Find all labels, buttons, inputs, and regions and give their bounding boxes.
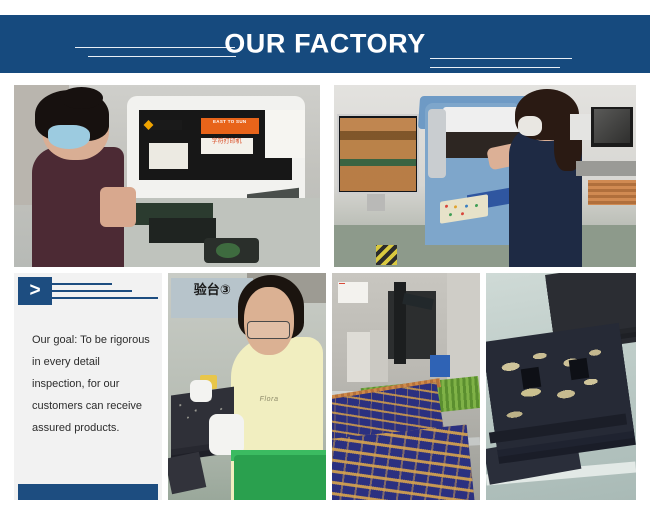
decor-line-right-2: [430, 67, 560, 68]
photo-visual-inspection-station: 验台③ Flora: [168, 273, 326, 500]
orange-brand-sign: EAST TO SUN: [201, 118, 259, 134]
keypad-key-yellow: [454, 205, 457, 208]
operator-face-mask: [48, 125, 91, 149]
cad-monitor-screen: [340, 118, 416, 191]
photo-content: [332, 273, 480, 500]
sign-accent-bar: [339, 283, 344, 284]
keypad-key-green: [474, 204, 477, 207]
tertiary-display: [570, 114, 591, 139]
machine-brand-logo: [143, 120, 183, 131]
inspector-eyeglasses: [247, 321, 290, 339]
wall-document: [265, 110, 305, 157]
operator-hair-bun: [60, 87, 103, 109]
banner-inner: OUR FACTORY: [0, 15, 650, 73]
copper-panel-stack: [588, 180, 636, 205]
hazard-stripe-marker: [376, 245, 397, 265]
goal-decor-line-1: [48, 283, 112, 285]
blue-bin: [430, 355, 451, 378]
machine-instruction-label: [149, 143, 189, 168]
operator-arm: [100, 187, 137, 227]
goal-card-inner: > Our goal: To be rigorous in every deta…: [14, 277, 162, 500]
goal-decor-line-2: [48, 290, 132, 292]
keypad-key-green-2: [448, 212, 451, 215]
machine-name-sign: 字符打印机: [201, 138, 253, 154]
photo-content: [486, 273, 636, 500]
inspector-glove-lower: [209, 414, 244, 455]
page-title: OUR FACTORY: [0, 31, 650, 58]
goal-card-footer-bar: [18, 484, 158, 500]
photo-cnc-routing-operator: [334, 85, 636, 267]
pcb-cutout-right: [569, 358, 590, 381]
goal-decor-line-3: [48, 297, 158, 299]
monitor-stand: [367, 194, 385, 210]
pcb-cutout-left: [521, 367, 542, 390]
photo-content: [334, 85, 636, 267]
side-bench: [576, 161, 636, 176]
keypad-key-blue: [465, 204, 468, 207]
router-machine-lid: [443, 107, 522, 132]
machine-name-sign-text: 字符打印机: [201, 138, 253, 147]
keypad-key-red: [445, 205, 448, 208]
photo-pcb-conveyor-line: [332, 273, 480, 500]
operator-face-mask: [518, 116, 542, 136]
router-machine-column: [428, 109, 446, 178]
logo-diamond-icon: [143, 120, 153, 130]
chevron-right-icon: >: [18, 277, 52, 305]
photo-finished-pcb-stack: [486, 273, 636, 500]
orange-brand-sign-text: EAST TO SUN: [201, 118, 259, 127]
goal-card-header: >: [18, 277, 162, 313]
photo-content: 验台③ Flora: [168, 273, 326, 500]
goal-statement-card: > Our goal: To be rigorous in every deta…: [14, 273, 162, 500]
page-header-banner: OUR FACTORY: [0, 15, 650, 73]
equipment-cabinet-side: [370, 330, 388, 382]
decor-line-right-1: [430, 58, 572, 59]
photo-character-printer-operator: EAST TO SUN 字符打印机: [14, 85, 320, 267]
green-collection-bin: [234, 455, 326, 500]
safety-notice-sign: [338, 282, 368, 302]
factory-photo-grid: EAST TO SUN 字符打印机: [14, 85, 636, 500]
mouse: [216, 243, 240, 258]
blue-pcb-panel-lower: [332, 424, 475, 500]
secondary-monitor-screen: [594, 109, 630, 144]
photo-content: EAST TO SUN 字符打印机: [14, 85, 320, 267]
keypad-key-red-2: [461, 212, 464, 215]
inspector-glove-upper: [190, 380, 212, 403]
goal-statement-text: Our goal: To be rigorous in every detail…: [32, 329, 150, 439]
shirt-print-text: Flora: [260, 396, 295, 412]
